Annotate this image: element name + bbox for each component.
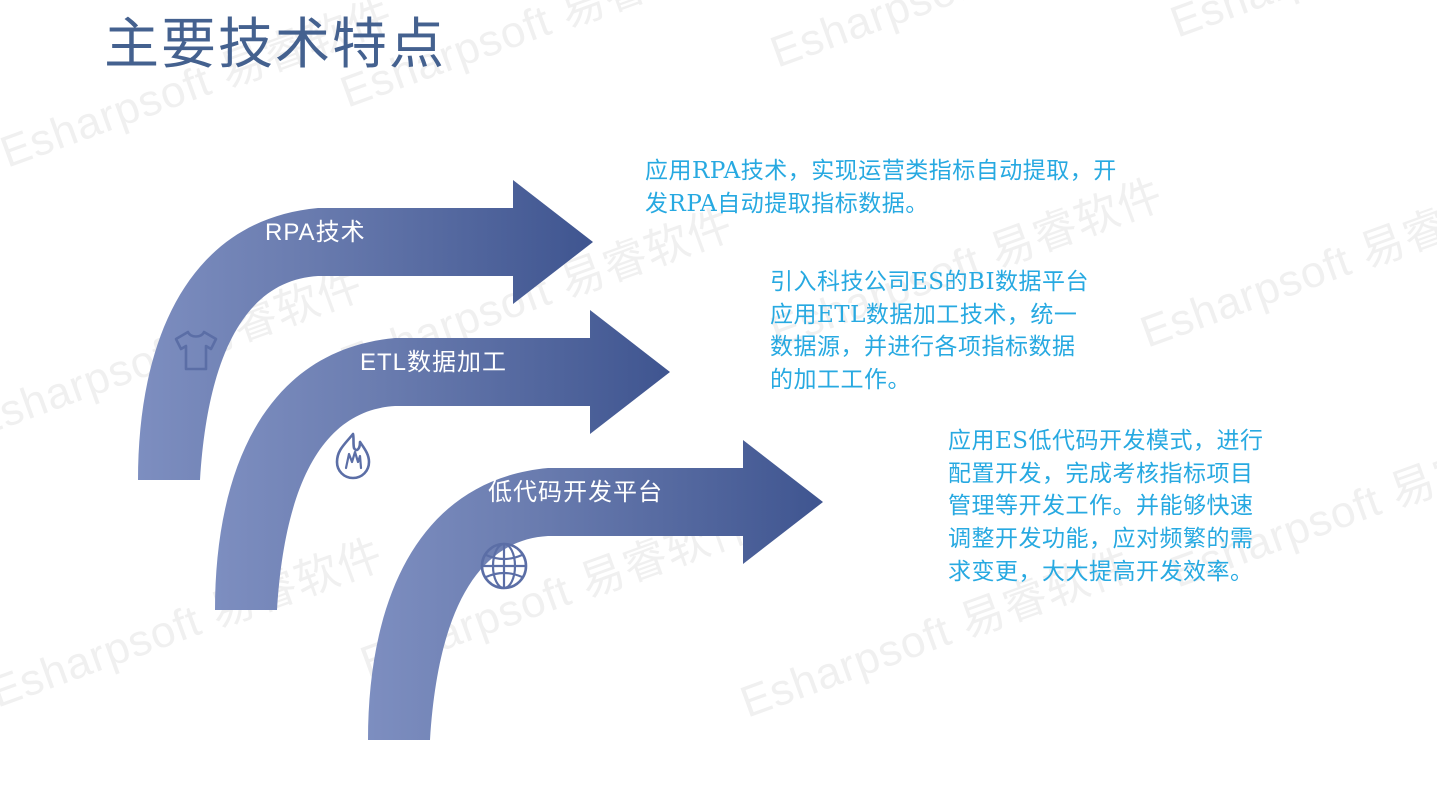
process-arrow-label-rpa: RPA技术 [265, 212, 366, 247]
slide-canvas: Esharpsoft 易睿软件Esharpsoft 易睿软件Esharpsoft… [0, 0, 1437, 804]
process-arrow-label-lowcode: 低代码开发平台 [488, 472, 663, 507]
watermark-text: Esharpsoft 易睿软件 [1160, 0, 1437, 50]
watermark-text: Esharpsoft 易睿软件 [760, 0, 1171, 80]
tshirt-icon [168, 322, 224, 383]
description-lowcode: 应用ES低代码开发模式，进行 配置开发，完成考核指标项目 管理等开发工作。并能够… [948, 425, 1328, 588]
globe-icon [476, 538, 532, 599]
flame-icon [325, 428, 381, 489]
description-etl: 引入科技公司ES的BI数据平台 应用ETL数据加工技术，统一 数据源，并进行各项… [770, 266, 1240, 397]
page-title: 主要技术特点 [104, 14, 446, 75]
description-rpa: 应用RPA技术，实现运营类指标自动提取，开 发RPA自动提取指标数据。 [645, 155, 1225, 220]
process-arrow-label-etl: ETL数据加工 [360, 342, 507, 377]
